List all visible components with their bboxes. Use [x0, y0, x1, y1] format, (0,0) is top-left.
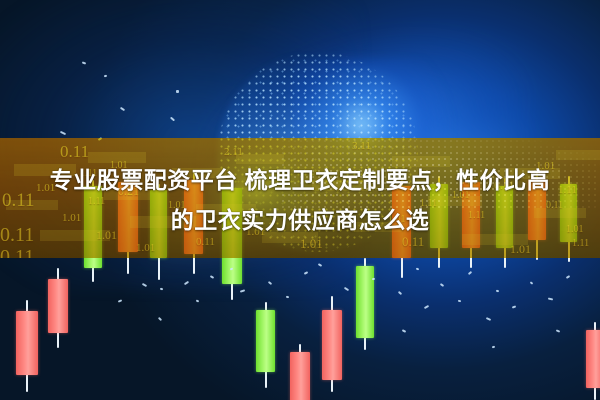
- band-dot-texture: [280, 138, 600, 208]
- gold-overlay-band-blend: [0, 138, 600, 258]
- candlestick-body: [16, 311, 38, 375]
- candlestick-body: [356, 266, 374, 338]
- candlestick-body: [290, 352, 310, 400]
- candlestick-body: [586, 330, 600, 388]
- banner-image: 0.110.110.111.011.011.011.111.111.010.21…: [0, 0, 600, 400]
- candlestick-body: [48, 279, 68, 333]
- candlestick-body: [256, 310, 275, 372]
- candlestick-body: [322, 310, 342, 380]
